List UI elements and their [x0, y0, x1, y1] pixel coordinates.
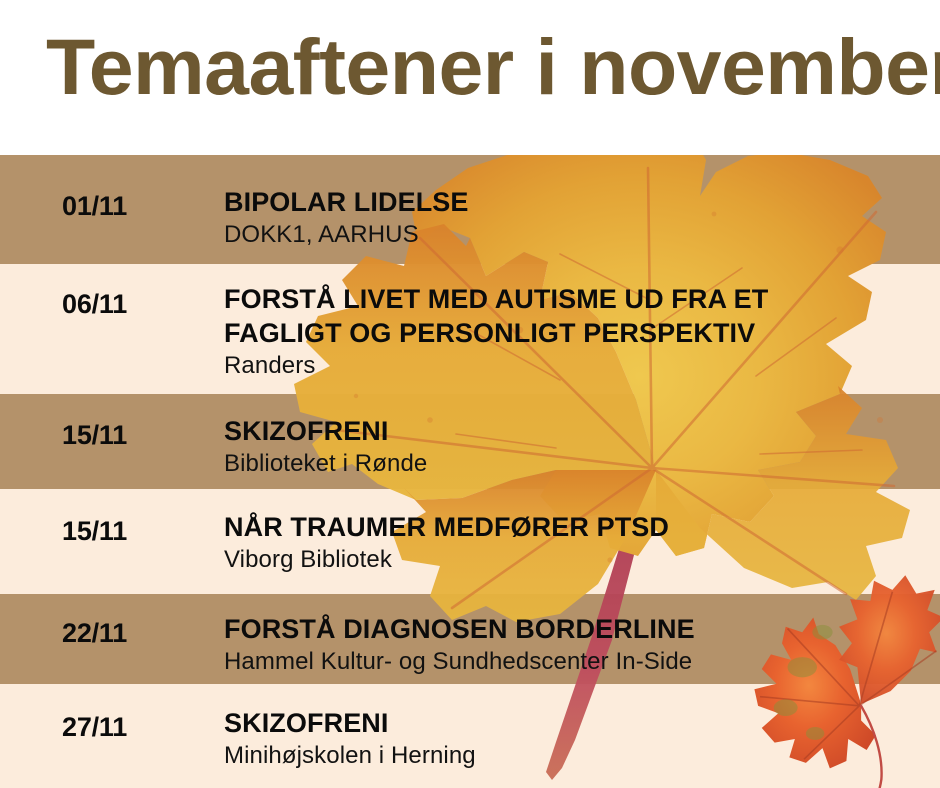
event-date: 22/11 — [62, 618, 212, 649]
event-title: FORSTÅ LIVET MED AUTISME UD FRA ET FAGLI… — [224, 282, 924, 350]
event-title: NÅR TRAUMER MEDFØRER PTSD — [224, 510, 924, 544]
poster-header: Temaaftener i november — [0, 0, 940, 155]
event-title: SKIZOFRENI — [224, 414, 924, 448]
event-venue: Minihøjskolen i Herning — [224, 741, 924, 771]
event-body: SKIZOFRENIMinihøjskolen i Herning — [224, 706, 924, 771]
event-title: FORSTÅ DIAGNOSEN BORDERLINE — [224, 612, 924, 646]
event-title: BIPOLAR LIDELSE — [224, 185, 924, 219]
poster-canvas: Temaaftener i november 01/11BIPOLAR LIDE… — [0, 0, 940, 788]
event-date: 27/11 — [62, 712, 212, 743]
event-row[interactable]: 22/11FORSTÅ DIAGNOSEN BORDERLINEHammel K… — [0, 594, 940, 684]
event-row[interactable]: 06/11FORSTÅ LIVET MED AUTISME UD FRA ET … — [0, 264, 940, 394]
event-row[interactable]: 15/11NÅR TRAUMER MEDFØRER PTSDViborg Bib… — [0, 489, 940, 594]
page-title: Temaaftener i november — [46, 24, 923, 110]
event-date: 01/11 — [62, 191, 212, 222]
event-body: NÅR TRAUMER MEDFØRER PTSDViborg Bibliote… — [224, 510, 924, 575]
event-date: 06/11 — [62, 289, 212, 320]
event-title: SKIZOFRENI — [224, 706, 924, 740]
event-body: FORSTÅ LIVET MED AUTISME UD FRA ET FAGLI… — [224, 282, 924, 381]
event-venue: Hammel Kultur- og Sundhedscenter In-Side — [224, 647, 924, 677]
event-date: 15/11 — [62, 420, 212, 451]
event-row[interactable]: 15/11SKIZOFRENIBiblioteket i Rønde — [0, 394, 940, 489]
event-venue: Biblioteket i Rønde — [224, 449, 924, 479]
event-body: FORSTÅ DIAGNOSEN BORDERLINEHammel Kultur… — [224, 612, 924, 677]
event-body: SKIZOFRENIBiblioteket i Rønde — [224, 414, 924, 479]
event-venue: Viborg Bibliotek — [224, 545, 924, 575]
event-body: BIPOLAR LIDELSEDOKK1, AARHUS — [224, 185, 924, 250]
event-venue: Randers — [224, 351, 924, 381]
event-date: 15/11 — [62, 516, 212, 547]
event-venue: DOKK1, AARHUS — [224, 220, 924, 250]
event-row[interactable]: 27/11SKIZOFRENIMinihøjskolen i Herning — [0, 684, 940, 788]
event-row[interactable]: 01/11BIPOLAR LIDELSEDOKK1, AARHUS — [0, 155, 940, 264]
